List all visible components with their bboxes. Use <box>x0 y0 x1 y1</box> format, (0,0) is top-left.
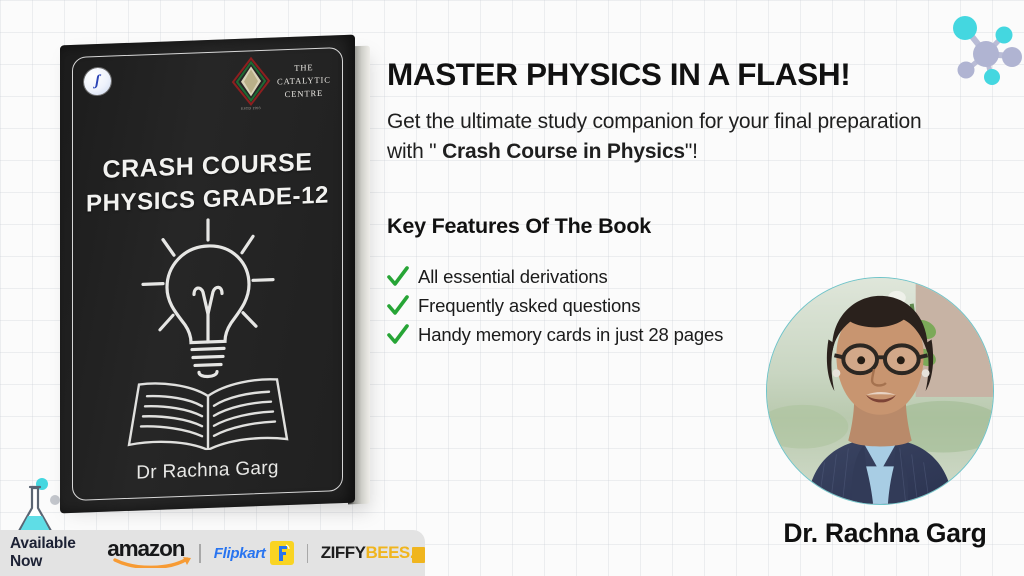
amazon-logo[interactable]: amazon <box>107 538 186 568</box>
feature-label: Handy memory cards in just 28 pages <box>418 324 723 346</box>
separator <box>307 544 308 563</box>
check-icon <box>387 266 409 288</box>
available-now-label: Available Now <box>10 535 94 571</box>
publisher-badge-glyph: ʃ <box>95 74 100 89</box>
list-item: Handy memory cards in just 28 pages <box>387 320 807 349</box>
separator <box>199 544 200 563</box>
subheadline-bold: Crash Course in Physics <box>442 140 685 163</box>
availability-bar: Available Now amazon Flipkart ZIFFY BEE <box>0 530 425 576</box>
check-icon <box>387 295 409 317</box>
molecule-icon <box>946 6 1024 92</box>
book-author-name: Dr Rachna Garg <box>60 455 355 488</box>
features-heading: Key Features Of The Book <box>387 214 651 239</box>
ziffy-wordmark-part-1: ZIFFY <box>321 543 366 563</box>
book-title-line-1: CRASH COURSE <box>60 147 355 187</box>
check-icon <box>387 324 409 346</box>
list-item: All essential derivations <box>387 262 807 291</box>
flipkart-logo[interactable]: Flipkart <box>214 541 294 565</box>
ziffy-wordmark-part-2: BEES. <box>365 543 414 563</box>
author-display-name: Dr. Rachna Garg <box>760 518 1010 549</box>
amazon-swoosh-icon <box>113 556 193 568</box>
lightbulb-over-book-icon <box>115 215 301 454</box>
publisher-badge-icon: ʃ <box>84 68 111 96</box>
page-title: MASTER PHYSICS IN A FLASH! <box>387 57 947 92</box>
catalytic-estd-text: ESTD 1993 <box>229 106 273 112</box>
ziffybees-logo[interactable]: ZIFFY BEES. <box>321 543 425 563</box>
flipkart-tile-icon <box>270 541 294 565</box>
catalytic-centre-logo: ESTD 1993 THE CATALYTIC CENTRE <box>229 53 339 123</box>
subheadline-part-2: "! <box>685 140 698 163</box>
ziffy-bag-icon <box>412 547 425 563</box>
author-portrait <box>767 278 993 504</box>
book-cover: ʃ ESTD 1993 THE CATALYTIC <box>60 35 355 514</box>
subheadline: Get the ultimate study companion for you… <box>387 107 932 167</box>
feature-label: All essential derivations <box>418 266 608 288</box>
flipkart-wordmark: Flipkart <box>214 545 266 562</box>
promo-banner: ʃ ESTD 1993 THE CATALYTIC <box>0 0 1024 576</box>
catalytic-line-3: CENTRE <box>277 86 331 101</box>
feature-label: Frequently asked questions <box>418 295 640 317</box>
book-title-line-2: PHYSICS GRADE-12 <box>60 181 355 220</box>
list-item: Frequently asked questions <box>387 291 807 320</box>
features-list: All essential derivations Frequently ask… <box>387 262 807 349</box>
avatar <box>766 277 994 505</box>
book-mockup: ʃ ESTD 1993 THE CATALYTIC <box>55 38 375 510</box>
catalytic-diamond-icon: ESTD 1993 <box>229 56 273 112</box>
